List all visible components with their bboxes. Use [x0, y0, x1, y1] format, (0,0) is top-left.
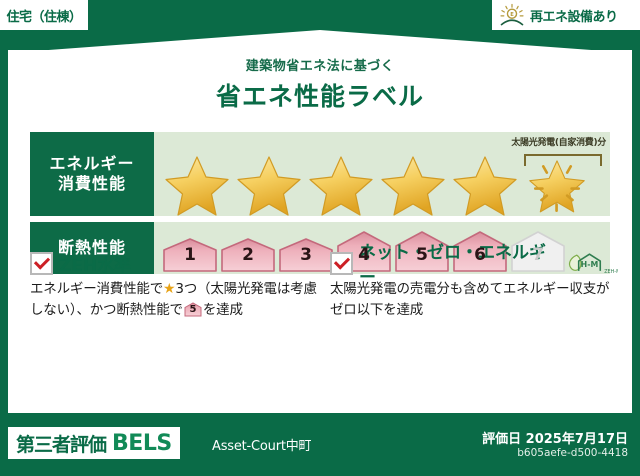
title-block: 建築物省エネ法に基づく 省エネ性能ラベル: [8, 55, 632, 113]
claim-zeh-header: ZEH水準: [30, 250, 318, 276]
star-6-solar-sparkle: [524, 150, 595, 212]
bels-label: BELS: [112, 431, 172, 456]
solar-self-consumption-note: 太陽光発電(自家消費)分: [511, 135, 606, 148]
inline-star-icon: ★: [163, 281, 175, 297]
star-rating: [164, 150, 595, 212]
claim-zeh-title: ZEH水準: [59, 251, 131, 276]
building-name: Asset-Court中町: [212, 435, 311, 454]
claim-zeh-body-post: を達成: [203, 302, 243, 318]
building-type-text: 住宅（住棟）: [6, 6, 81, 25]
title-subtitle: 建築物省エネ法に基づく: [8, 55, 632, 74]
label-card: 建築物省エネ法に基づく 省エネ性能ラベル エネルギー 消費性能 太陽光発電(自家…: [8, 50, 632, 413]
claim-zeh-body-pre: エネルギー消費性能で: [30, 281, 163, 297]
claim-nze-body: 太陽光発電の売電分も含めてエネルギー収支がゼロ以下を達成: [330, 279, 618, 320]
evaluation-date-value: 2025年7月17日: [526, 432, 628, 447]
svg-text:H-M: H-M: [581, 260, 599, 269]
solar-sun-icon: E: [498, 3, 526, 27]
evaluation-id: b605aefe-d500-4418: [517, 447, 628, 459]
claim-zeh-body: エネルギー消費性能で★3つ（太陽光発電は考慮しない）、かつ断熱性能で5を達成: [30, 279, 318, 321]
energy-label-line2: 消費性能: [49, 174, 134, 194]
page-title: 省エネ性能ラベル: [8, 77, 632, 113]
checkbox-checked-icon: [330, 252, 353, 275]
claim-zeh: ZEH水準 エネルギー消費性能で★3つ（太陽光発電は考慮しない）、かつ断熱性能で…: [30, 250, 318, 321]
svg-text:E: E: [510, 12, 514, 18]
renewable-energy-badge: E 再エネ設備あり: [492, 0, 640, 30]
star-4: [380, 150, 451, 212]
energy-performance-value: 太陽光発電(自家消費)分: [154, 132, 610, 216]
energy-performance-label: 住宅（住棟） E 再エネ設備あり 建: [0, 0, 640, 476]
star-3: [308, 150, 379, 212]
evaluation-date: 評価日 2025年7月17日: [482, 428, 628, 447]
energy-label-line1: エネルギー: [49, 154, 134, 174]
inline-grade-badge: 5: [184, 302, 202, 317]
grade-number: 4: [358, 245, 370, 272]
footer-bar: 第三者評価 BELS Asset-Court中町 評価日 2025年7月17日 …: [0, 413, 640, 476]
renewable-badge-text: 再エネ設備あり: [530, 6, 618, 25]
grade-number: 1: [184, 245, 196, 272]
checkbox-checked-icon: [30, 252, 53, 275]
grade-number: 5: [416, 245, 428, 272]
third-party-label: 第三者評価: [16, 430, 106, 457]
star-1: [164, 150, 235, 212]
grade-number: 7: [532, 245, 544, 272]
bels-certification-badge: 第三者評価 BELS: [8, 427, 180, 459]
grade-number: 6: [474, 245, 486, 272]
grade-number: 2: [242, 245, 254, 272]
energy-performance-key: エネルギー 消費性能: [30, 132, 154, 216]
building-type-tag: 住宅（住棟）: [0, 0, 88, 30]
evaluation-date-label: 評価日: [482, 432, 521, 447]
energy-performance-row: エネルギー 消費性能 太陽光発電(自家消費)分: [30, 132, 610, 216]
star-5: [452, 150, 523, 212]
zeh-m-caption: ZEH-M: [604, 269, 618, 275]
zeh-m-house-logo-icon: H-M ZEH-M: [563, 251, 618, 275]
top-bar: 住宅（住棟） E 再エネ設備あり: [0, 0, 640, 32]
inline-grade-number: 5: [184, 302, 202, 317]
grade-number: 3: [300, 245, 312, 272]
sparkle-rays-icon: [524, 154, 590, 216]
star-2: [236, 150, 307, 212]
